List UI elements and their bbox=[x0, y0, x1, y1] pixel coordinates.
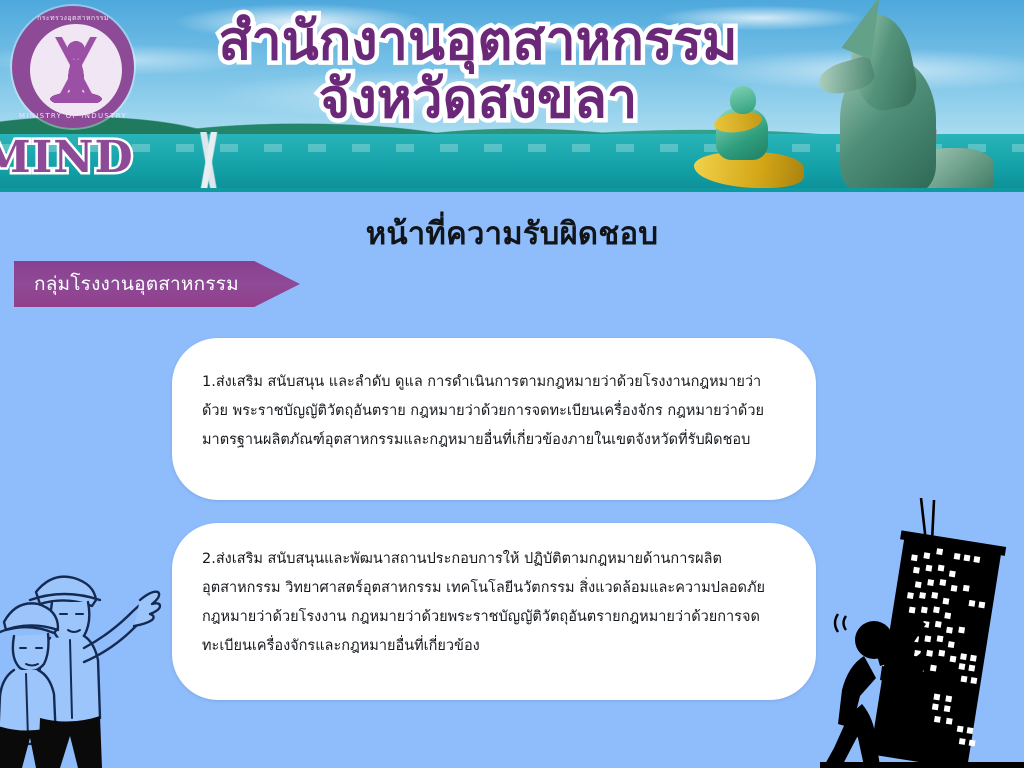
naga-serpent-statue-icon bbox=[800, 0, 990, 192]
page-title: หน้าที่ความรับผิดชอบ bbox=[0, 208, 1024, 258]
header-banner: กระทรวงอุตสาหกรรม MINISTRY OF INDUSTRY M… bbox=[0, 0, 1024, 192]
organization-title-line1: สำนักงานอุตสาหกรรม bbox=[218, 9, 737, 72]
mind-wordmark: MIND bbox=[0, 136, 134, 180]
responsibility-card-2: 2.ส่งเสริม สนับสนุนและพัฒนาสถานประกอบการ… bbox=[172, 523, 816, 700]
seal-deity-figure-icon bbox=[45, 37, 107, 103]
banner-bridge bbox=[150, 132, 270, 192]
slide-root: กระทรวงอุตสาหกรรม MINISTRY OF INDUSTRY M… bbox=[0, 0, 1024, 768]
workers-illustration bbox=[0, 552, 176, 768]
building-pusher-illustration bbox=[820, 498, 1024, 768]
building-pusher-illustration-svg bbox=[820, 498, 1024, 768]
section-ribbon-label: กลุ่มโรงงานอุตสาหกรรม bbox=[14, 269, 239, 299]
responsibility-card-2-text: 2.ส่งเสริม สนับสนุนและพัฒนาสถานประกอบการ… bbox=[172, 545, 816, 661]
seal-bottom-text: MINISTRY OF INDUSTRY bbox=[12, 112, 134, 120]
workers-illustration-svg bbox=[0, 552, 176, 768]
seal-inner-ring bbox=[27, 21, 125, 119]
responsibility-card-1-text: 1.ส่งเสริม สนับสนุน และลำดับ ดูแล การดำเ… bbox=[172, 368, 816, 455]
section-ribbon: กลุ่มโรงงานอุตสาหกรรม bbox=[14, 261, 300, 307]
ministry-seal-icon: กระทรวงอุตสาหกรรม MINISTRY OF INDUSTRY bbox=[12, 6, 134, 128]
banner-bottom-strip bbox=[0, 188, 1024, 192]
responsibility-card-1: 1.ส่งเสริม สนับสนุน และลำดับ ดูแล การดำเ… bbox=[172, 338, 816, 500]
golden-mermaid-statue-icon bbox=[690, 82, 810, 192]
